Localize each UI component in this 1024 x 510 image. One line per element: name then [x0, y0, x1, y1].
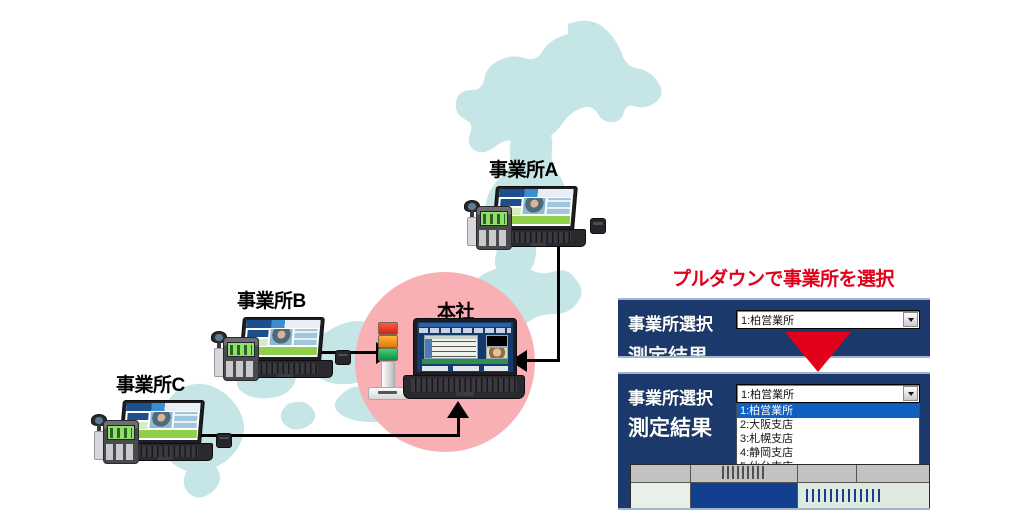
network-adapter: [216, 433, 232, 448]
office-select-value: 1:柏営業所: [737, 386, 903, 402]
device-cluster-site-c: [85, 400, 235, 464]
connector-site-a-horizontal: [527, 359, 560, 362]
dialog-expanded: 事業所選択 1:柏営業所 測定結果 1:柏営業所 2:大阪支店 3:札幌支店 4…: [618, 372, 930, 510]
tower-green-lamp: [378, 348, 398, 361]
device-cluster-site-b: [205, 317, 355, 381]
network-adapter: [590, 218, 606, 234]
measurement-result-label: 測定結果: [628, 412, 712, 442]
office-select-label: 事業所選択: [628, 384, 713, 409]
measurement-table: [630, 464, 930, 510]
table-header-row: [631, 465, 929, 483]
network-adapter: [335, 350, 351, 365]
arrow-into-hq-from-c: [447, 401, 469, 418]
dropdown-option-3[interactable]: 3:札幌支店: [737, 432, 919, 446]
dropdown-option-1[interactable]: 1:柏営業所: [737, 404, 919, 418]
laptop-headquarters: [403, 318, 525, 402]
connector-site-a-vertical: [557, 242, 560, 361]
office-select-combo-open[interactable]: 1:柏営業所: [736, 384, 920, 403]
device-cluster-site-a: [458, 186, 608, 250]
andon-signal-tower: [378, 322, 398, 400]
site-label-b: 事業所B: [237, 286, 306, 313]
red-down-arrow: [785, 332, 851, 372]
connector-site-c-vertical: [457, 418, 460, 437]
measuring-unit: [476, 206, 512, 250]
site-label-c: 事業所C: [116, 370, 185, 397]
diagram-canvas: 事業所A 事業所B: [0, 0, 1024, 510]
office-select-combo[interactable]: 1:柏営業所: [736, 310, 920, 329]
headquarters-app-screen: [417, 322, 513, 372]
office-select-label: 事業所選択: [628, 310, 713, 335]
dropdown-option-4[interactable]: 4:静岡支店: [737, 446, 919, 460]
office-select-value: 1:柏営業所: [737, 312, 903, 328]
tower-red-lamp: [378, 322, 398, 335]
measurement-result-label-partial: 測定結果: [628, 340, 708, 358]
table-row: [631, 483, 929, 509]
dialog-collapsed: 事業所選択 1:柏営業所 測定結果: [618, 298, 930, 358]
chevron-down-icon[interactable]: [903, 386, 918, 401]
site-label-a: 事業所A: [489, 155, 558, 182]
application-screenshot-panel: プルダウンで事業所を選択 事業所選択 1:柏営業所 測定結果 事業所選択 1:柏…: [610, 262, 940, 510]
measuring-unit: [223, 337, 259, 381]
dropdown-option-2[interactable]: 2:大阪支店: [737, 418, 919, 432]
measuring-unit: [103, 420, 139, 464]
chevron-down-icon[interactable]: [903, 312, 918, 327]
panel-title: プルダウンで事業所を選択: [672, 264, 894, 291]
tower-amber-lamp: [378, 335, 398, 348]
